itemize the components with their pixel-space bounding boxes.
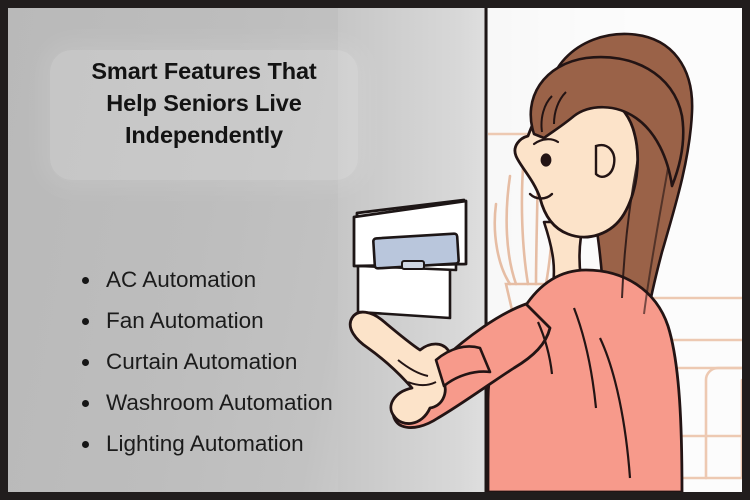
list-item: AC Automation [72, 259, 333, 300]
list-item-label: Lighting Automation [106, 431, 304, 456]
ear [596, 145, 614, 177]
poster-canvas: Smart Features That Help Seniors Live In… [0, 0, 750, 500]
title-line-3: Independently [50, 120, 358, 152]
list-item-label: Curtain Automation [106, 349, 297, 374]
feature-list: AC Automation Fan Automation Curtain Aut… [72, 259, 333, 464]
list-item: Fan Automation [72, 300, 333, 341]
list-item-label: AC Automation [106, 267, 256, 292]
list-item: Curtain Automation [72, 341, 333, 382]
poster-inner-canvas: Smart Features That Help Seniors Live In… [8, 8, 742, 492]
illustration-scene [338, 8, 742, 492]
title-line-2: Help Seniors Live [50, 88, 358, 120]
bullet-icon [82, 400, 89, 407]
page-title: Smart Features That Help Seniors Live In… [50, 56, 358, 152]
title-line-1: Smart Features That [50, 56, 358, 88]
list-item: Washroom Automation [72, 382, 333, 423]
bullet-icon [82, 277, 89, 284]
eye [541, 153, 552, 166]
senior-smart-home-illustration [338, 8, 742, 492]
bullet-icon [82, 318, 89, 325]
list-item: Lighting Automation [72, 423, 333, 464]
list-item-label: Fan Automation [106, 308, 264, 333]
bullet-icon [82, 441, 89, 448]
bullet-icon [82, 359, 89, 366]
list-item-label: Washroom Automation [106, 390, 333, 415]
